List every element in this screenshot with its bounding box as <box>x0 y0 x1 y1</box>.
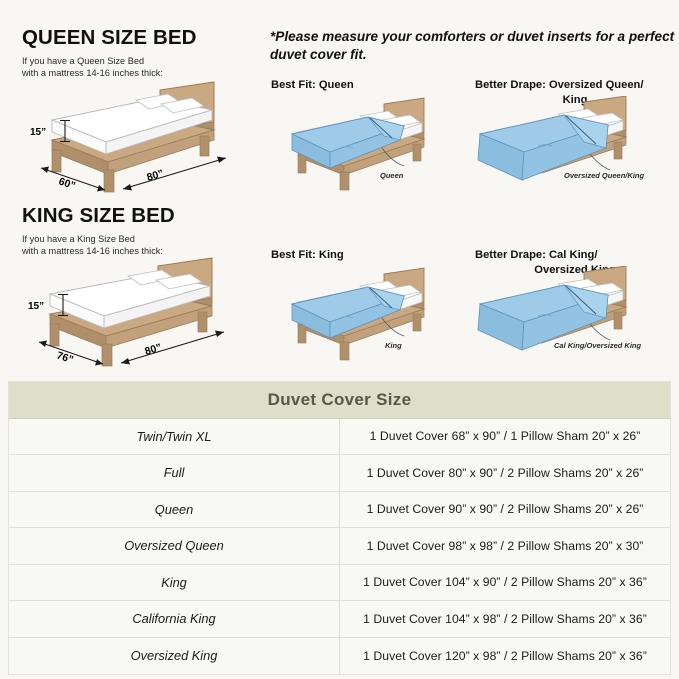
king-best-fit-bed-illustration: King <box>272 266 452 362</box>
table-row: Oversized King 1 Duvet Cover 120” x 98” … <box>9 637 670 674</box>
king-subtitle-line-2: with a mattress 14-16 inches thick: <box>22 246 163 256</box>
queen-height-label: 15” <box>30 127 46 138</box>
duvet-cover-size-table-wrapper: Duvet Cover Size Twin/Twin XL 1 Duvet Co… <box>8 381 671 675</box>
queen-best-fit-heading: Best Fit: Queen <box>271 78 354 93</box>
table-row: Twin/Twin XL 1 Duvet Cover 68” x 90” / 1… <box>9 418 670 455</box>
table-header-title: Duvet Cover Size <box>9 382 670 418</box>
row-size-description: 1 Duvet Cover 104” x 98” / 2 Pillow Sham… <box>340 601 671 638</box>
king-height-label: 15” <box>28 301 44 312</box>
row-size-description: 1 Duvet Cover 90” x 90” / 2 Pillow Shams… <box>340 491 671 528</box>
row-size-label: Full <box>9 455 340 492</box>
king-length-label: 80” <box>143 341 163 357</box>
king-better-drape-callout: Cal King/Oversized King <box>554 341 642 350</box>
queen-width-label: 60” <box>57 175 77 192</box>
row-size-description: 1 Duvet Cover 80” x 90” / 2 Pillow Shams… <box>340 455 671 492</box>
king-size-heading-block: KING SIZE BED If you have a King Size Be… <box>22 206 175 258</box>
diagram-area: QUEEN SIZE BED If you have a Queen Size … <box>0 0 679 374</box>
row-size-label: Twin/Twin XL <box>9 418 340 455</box>
table-body: Twin/Twin XL 1 Duvet Cover 68” x 90” / 1… <box>9 418 670 674</box>
table-row: Oversized Queen 1 Duvet Cover 98” x 98” … <box>9 528 670 565</box>
queen-better-drape-bed-illustration: Oversized Queen/King <box>466 96 671 192</box>
queen-section-title: QUEEN SIZE BED <box>22 28 197 49</box>
row-size-label: King <box>9 564 340 601</box>
row-size-label: Oversized King <box>9 637 340 674</box>
queen-measured-bed-illustration: 15” 60” 80” <box>8 78 248 196</box>
queen-subtitle-line-2: with a mattress 14-16 inches thick: <box>22 68 163 78</box>
queen-better-drape-line-1: Better Drape: Oversized Queen/ <box>475 79 644 91</box>
queen-best-fit-callout: Queen <box>380 171 404 180</box>
row-size-description: 1 Duvet Cover 98” x 98” / 2 Pillow Shams… <box>340 528 671 565</box>
row-size-description: 1 Duvet Cover 104” x 90” / 2 Pillow Sham… <box>340 564 671 601</box>
king-measured-bed-illustration: 15” 76” 80” <box>8 256 248 368</box>
queen-size-heading-block: QUEEN SIZE BED If you have a Queen Size … <box>22 28 197 80</box>
king-better-drape-bed-illustration: Cal King/Oversized King <box>466 266 671 362</box>
duvet-cover-size-table: Duvet Cover Size Twin/Twin XL 1 Duvet Co… <box>9 382 670 674</box>
table-row: King 1 Duvet Cover 104” x 90” / 2 Pillow… <box>9 564 670 601</box>
king-best-fit-callout: King <box>385 341 402 350</box>
queen-subtitle-line-1: If you have a Queen Size Bed <box>22 56 144 66</box>
queen-length-label: 80” <box>145 167 165 183</box>
table-row: California King 1 Duvet Cover 104” x 98”… <box>9 601 670 638</box>
row-size-label: California King <box>9 601 340 638</box>
king-better-drape-line-1: Better Drape: Cal King/ <box>475 249 597 261</box>
queen-best-fit-bed-illustration: Queen <box>272 96 452 192</box>
king-section-title: KING SIZE BED <box>22 206 175 227</box>
row-size-description: 1 Duvet Cover 68” x 90” / 1 Pillow Sham … <box>340 418 671 455</box>
row-size-label: Oversized Queen <box>9 528 340 565</box>
measure-note: *Please measure your comforters or duvet… <box>270 28 675 65</box>
king-subtitle-line-1: If you have a King Size Bed <box>22 234 135 244</box>
king-section-subtitle: If you have a King Size Bed with a mattr… <box>22 233 175 258</box>
table-head: Duvet Cover Size <box>9 382 670 418</box>
row-size-description: 1 Duvet Cover 120” x 98” / 2 Pillow Sham… <box>340 637 671 674</box>
queen-better-drape-callout: Oversized Queen/King <box>564 171 644 180</box>
row-size-label: Queen <box>9 491 340 528</box>
table-row: Full 1 Duvet Cover 80” x 90” / 2 Pillow … <box>9 455 670 492</box>
table-header-row: Duvet Cover Size <box>9 382 670 418</box>
king-width-label: 76” <box>55 349 75 366</box>
table-row: Queen 1 Duvet Cover 90” x 90” / 2 Pillow… <box>9 491 670 528</box>
queen-section-subtitle: If you have a Queen Size Bed with a matt… <box>22 55 197 80</box>
king-best-fit-heading: Best Fit: King <box>271 248 344 263</box>
